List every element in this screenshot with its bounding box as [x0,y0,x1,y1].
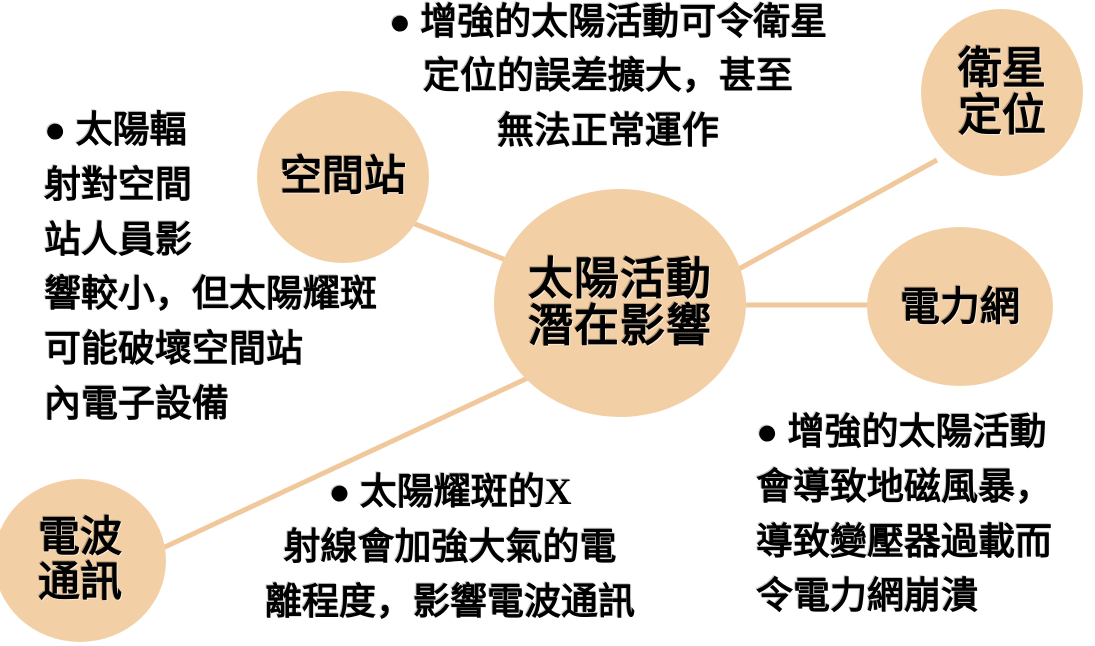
node-power-grid-label: 電力網 [900,286,1020,328]
node-satellite-positioning[interactable]: 衛星 定位 [921,9,1083,176]
note-space-station: ● 太陽輻 射對空間 站人員影 響較小，但太陽耀斑 可能破壞空間站 內電子設備 [44,104,474,433]
node-radio-communication[interactable]: 電波 通訊 [0,479,166,642]
node-power-grid[interactable]: 電力網 [867,227,1053,386]
note-power-grid: ● 增強的太陽活動 會導致地磁風暴， 導致變壓器過載而 令電力網崩潰 [756,406,1095,625]
node-radio-communication-label: 電波 通訊 [38,516,122,604]
node-center-label: 太陽活動 潛在影響 [528,256,712,351]
diagram-canvas: 空間站 太陽活動 潛在影響 衛星 定位 電力網 電波 通訊 ● 增強的太陽活動可… [0,0,1095,646]
node-center-solar-activity[interactable]: 太陽活動 潛在影響 [494,189,746,417]
note-radio-communication: ● 太陽耀斑的X 射線會加強大氣的電 離程度，影響電波通訊 [250,466,650,630]
node-satellite-positioning-label: 衛星 定位 [958,46,1046,138]
